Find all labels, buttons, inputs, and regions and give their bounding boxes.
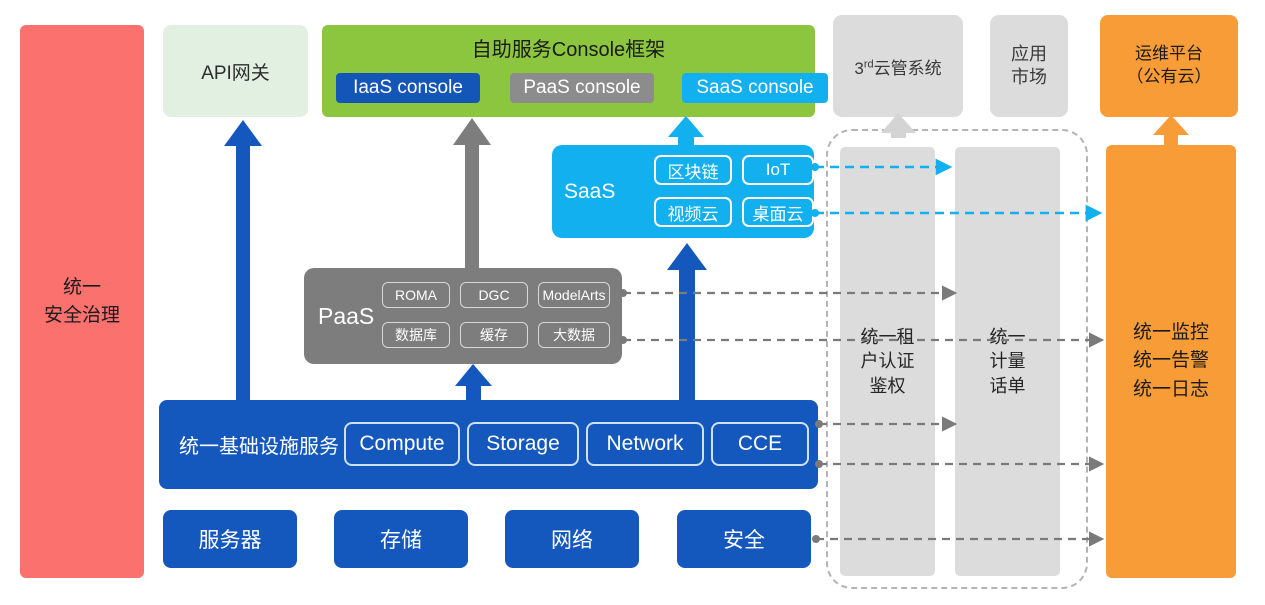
infra-chip-label: Storage bbox=[486, 432, 560, 456]
infrastructure-label: 统一基础设施服务 bbox=[179, 400, 339, 489]
unified-tenant-auth-pillar: 统一租 户认证 鉴权 bbox=[840, 147, 935, 576]
saas-console-label: SaaS console bbox=[696, 77, 813, 99]
paas-service-dgc[interactable]: DGC bbox=[460, 282, 528, 308]
unified-security-governance-panel: 统一 安全治理 bbox=[20, 25, 144, 578]
auth-line-2: 户认证 bbox=[861, 349, 915, 373]
paas-service-cache[interactable]: 缓存 bbox=[460, 322, 528, 348]
billing-line-2: 计量 bbox=[990, 349, 1026, 373]
ops-platform-body-panel: 统一监控 统一告警 统一日志 bbox=[1106, 145, 1236, 578]
hardware-box-network[interactable]: 网络 bbox=[505, 510, 639, 568]
security-line-2: 安全治理 bbox=[44, 302, 120, 330]
ops-body-line-3: 统一日志 bbox=[1133, 376, 1209, 405]
architecture-diagram: 统一 安全治理 API网关 自助服务Console框架 IaaS console… bbox=[0, 0, 1265, 605]
infra-service-compute[interactable]: Compute bbox=[344, 422, 460, 466]
paas-chip-label: 大数据 bbox=[553, 325, 595, 345]
infra-chip-label: CCE bbox=[738, 432, 782, 456]
paas-console-label: PaaS console bbox=[523, 77, 640, 99]
paas-chip-label: ROMA bbox=[395, 287, 437, 303]
ops-body-line-1: 统一监控 bbox=[1133, 319, 1209, 348]
hardware-label: 网络 bbox=[551, 524, 593, 554]
arrow-infra-to-paas bbox=[455, 364, 492, 400]
paas-console-chip[interactable]: PaaS console bbox=[510, 73, 654, 103]
api-gateway-box: API网关 bbox=[163, 25, 308, 117]
saas-service-iot[interactable]: IoT bbox=[742, 155, 814, 185]
saas-layer-label: SaaS bbox=[564, 145, 615, 238]
unified-infrastructure-panel: 统一基础设施服务 Compute Storage Network CCE bbox=[159, 400, 818, 489]
ops-platform-line-1: 运维平台 bbox=[1127, 43, 1212, 66]
hardware-box-server[interactable]: 服务器 bbox=[163, 510, 297, 568]
infra-chip-label: Compute bbox=[359, 432, 444, 456]
paas-chip-label: 数据库 bbox=[395, 325, 437, 345]
app-market-box: 应用 市场 bbox=[990, 15, 1068, 117]
saas-service-blockchain[interactable]: 区块链 bbox=[654, 155, 732, 185]
hardware-label: 存储 bbox=[380, 524, 422, 554]
infra-service-network[interactable]: Network bbox=[586, 422, 704, 466]
billing-line-1: 统一 bbox=[990, 325, 1026, 349]
auth-line-1: 统一租 bbox=[861, 325, 915, 349]
unified-metering-billing-pillar: 统一 计量 话单 bbox=[955, 147, 1060, 576]
paas-chip-label: DGC bbox=[478, 287, 509, 303]
saas-service-desktop-cloud[interactable]: 桌面云 bbox=[742, 197, 814, 227]
iaas-console-label: IaaS console bbox=[353, 77, 463, 99]
hardware-label: 安全 bbox=[723, 524, 765, 554]
third-party-cloud-label: 3rd云管系统 bbox=[854, 54, 941, 79]
hardware-label: 服务器 bbox=[199, 524, 262, 554]
infra-chip-label: Network bbox=[606, 432, 683, 456]
security-line-1: 统一 bbox=[44, 274, 120, 302]
paas-service-roma[interactable]: ROMA bbox=[382, 282, 450, 308]
third-party-cloud-mgmt-box: 3rd云管系统 bbox=[833, 15, 963, 117]
arrow-paas-to-paas-console bbox=[453, 118, 491, 269]
saas-service-video-cloud[interactable]: 视频云 bbox=[654, 197, 732, 227]
paas-chip-label: 缓存 bbox=[480, 325, 508, 345]
app-market-line-1: 应用 bbox=[1011, 43, 1047, 66]
paas-layer-panel: PaaS ROMA DGC ModelArts 数据库 缓存 大数据 bbox=[304, 268, 622, 364]
console-framework-title: 自助服务Console框架 bbox=[322, 33, 815, 62]
paas-service-bigdata[interactable]: 大数据 bbox=[538, 322, 610, 348]
saas-layer-panel: SaaS 区块链 IoT 视频云 桌面云 bbox=[552, 145, 814, 238]
paas-service-modelarts[interactable]: ModelArts bbox=[538, 282, 610, 308]
paas-service-database[interactable]: 数据库 bbox=[382, 322, 450, 348]
saas-chip-label: 视频云 bbox=[668, 200, 719, 225]
paas-chip-label: ModelArts bbox=[542, 287, 605, 303]
saas-chip-label: 区块链 bbox=[668, 158, 719, 183]
saas-chip-label: 桌面云 bbox=[753, 200, 804, 225]
ops-platform-line-2: （公有云） bbox=[1127, 66, 1212, 89]
ops-platform-header-box: 运维平台 （公有云） bbox=[1100, 15, 1238, 117]
arrow-saas-to-saas-console bbox=[668, 116, 704, 148]
paas-layer-label: PaaS bbox=[318, 268, 374, 364]
auth-line-3: 鉴权 bbox=[861, 374, 915, 398]
infra-service-storage[interactable]: Storage bbox=[467, 422, 579, 466]
iaas-console-chip[interactable]: IaaS console bbox=[336, 73, 480, 103]
arrow-zone-to-ops-platform bbox=[1153, 115, 1189, 145]
console-framework-panel: 自助服务Console框架 IaaS console PaaS console … bbox=[322, 25, 815, 117]
ops-body-line-2: 统一告警 bbox=[1133, 347, 1209, 376]
hardware-box-storage[interactable]: 存储 bbox=[334, 510, 468, 568]
infra-service-cce[interactable]: CCE bbox=[711, 422, 809, 466]
api-gateway-label: API网关 bbox=[201, 58, 270, 85]
arrow-infra-to-api-gateway bbox=[224, 120, 262, 400]
hardware-box-security[interactable]: 安全 bbox=[677, 510, 811, 568]
billing-line-3: 话单 bbox=[990, 374, 1026, 398]
app-market-line-2: 市场 bbox=[1011, 66, 1047, 89]
arrow-infra-to-saas bbox=[667, 243, 707, 400]
saas-console-chip[interactable]: SaaS console bbox=[682, 73, 828, 103]
saas-chip-label: IoT bbox=[766, 160, 791, 180]
